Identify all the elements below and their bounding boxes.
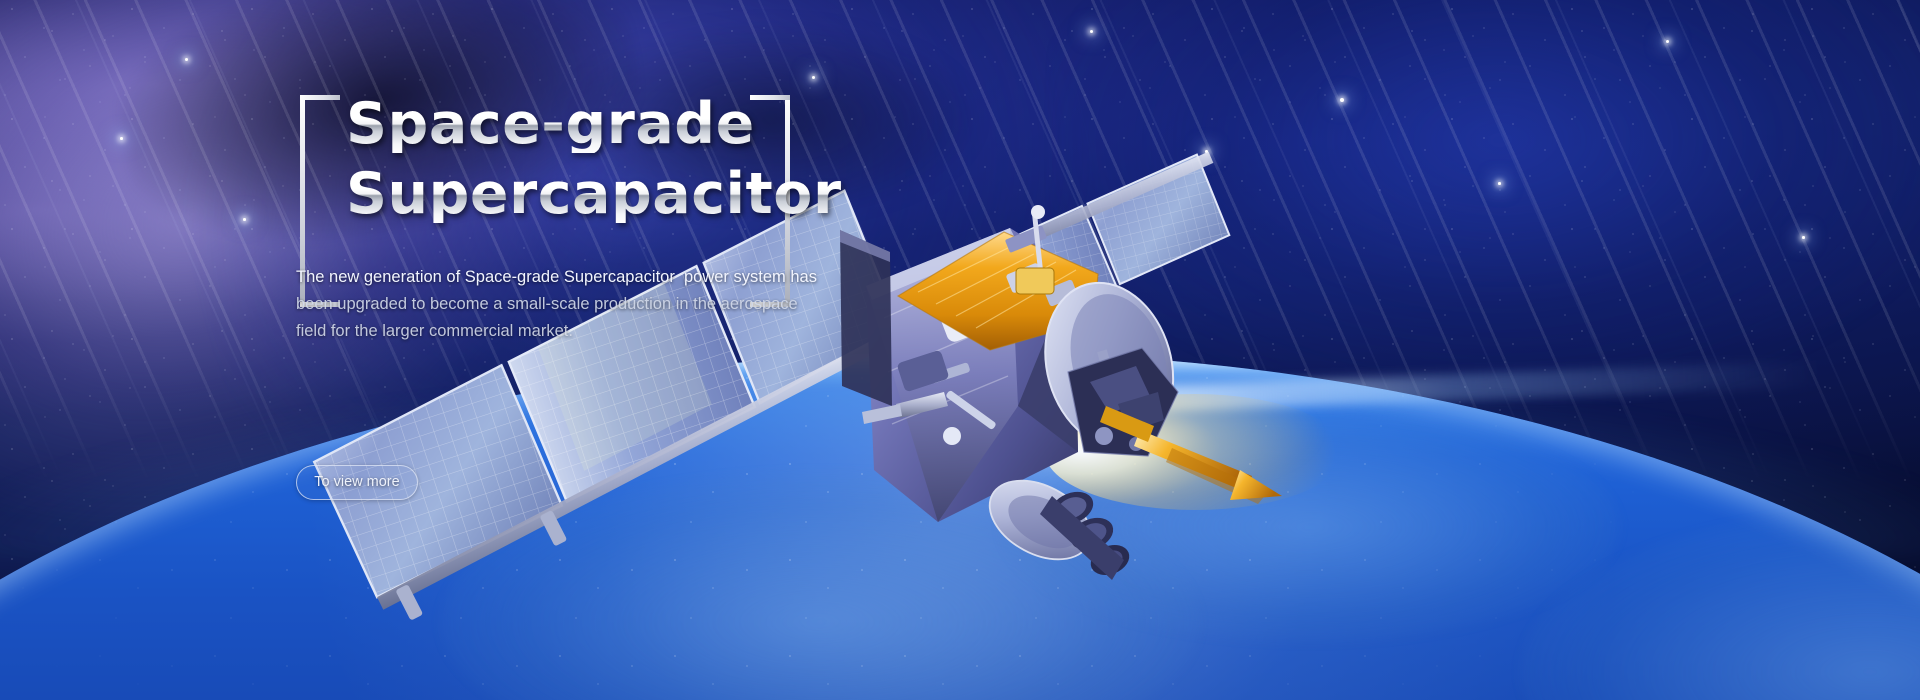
view-more-button[interactable]: To view more: [296, 465, 418, 500]
description-line-1: The new generation of Space-grade Superc…: [296, 264, 936, 291]
description-line-3: field for the larger commercial market.: [296, 318, 936, 345]
headline-line-2: Supercapacitor: [346, 166, 1246, 223]
banner-content: Space-grade Supercapacitor The new gener…: [0, 0, 1920, 700]
banner-description: The new generation of Space-grade Superc…: [296, 264, 936, 345]
hero-banner: Space-grade Supercapacitor The new gener…: [0, 0, 1920, 700]
headline-line-1: Space-grade: [346, 96, 1246, 153]
page-title: Space-grade Supercapacitor: [346, 96, 1246, 223]
description-line-2: been upgraded to become a small-scale pr…: [296, 291, 936, 318]
